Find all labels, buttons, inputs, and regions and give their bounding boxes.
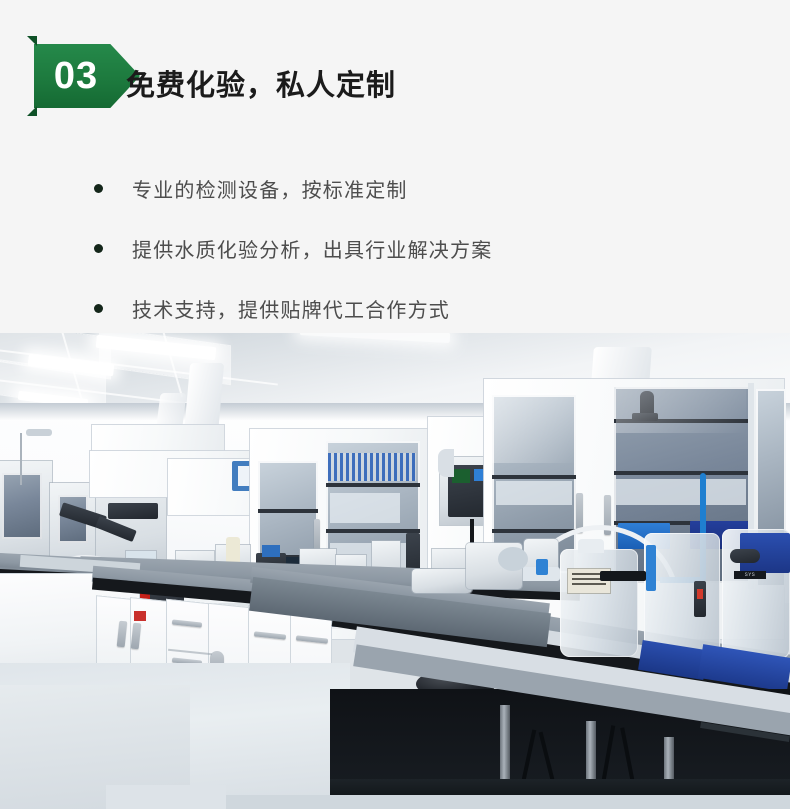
instrument-panel <box>108 503 158 519</box>
hood-fitting <box>438 449 454 477</box>
product-detail-section: 03 免费化验，私人定制 专业的检测设备，按标准定制 提供水质化验分析，出具行业… <box>0 0 790 809</box>
glassware <box>616 479 746 505</box>
bullet-dot-icon <box>94 244 103 253</box>
laboratory-photo: SYS <box>0 333 790 809</box>
unit-panel-label: SYS <box>734 571 766 579</box>
warning-label <box>134 611 146 621</box>
section-number-badge: 03 <box>27 36 140 116</box>
cabinet-shelf <box>614 471 750 475</box>
control-indicator <box>452 469 470 483</box>
water-purification-unit <box>560 549 638 657</box>
cabinet-shelf <box>492 475 576 479</box>
pipette-rack <box>328 453 416 481</box>
page-title: 免费化验，私人定制 <box>126 62 396 104</box>
unit-handle[interactable] <box>730 549 760 563</box>
unit-indicator <box>697 589 703 599</box>
glass-reflection <box>492 393 576 463</box>
unit-display-panel <box>694 581 706 617</box>
unit-cap <box>578 539 604 553</box>
bullet-dot-icon <box>94 184 103 193</box>
cable <box>20 433 22 485</box>
badge-fold-top-icon <box>27 36 37 46</box>
feature-list: 专业的检测设备，按标准定制 提供水质化验分析，出具行业解决方案 技术支持，提供贴… <box>92 158 692 338</box>
cabinet-shelf <box>258 509 318 513</box>
equipment-knob <box>498 547 528 571</box>
floor-strip <box>200 795 790 809</box>
instrument-window <box>2 473 42 539</box>
wall-fitting <box>26 429 52 436</box>
list-item-label: 专业的检测设备，按标准定制 <box>132 174 408 203</box>
blue-indicator <box>262 545 280 557</box>
list-item: 专业的检测设备，按标准定制 <box>92 158 692 218</box>
section-number: 03 <box>43 44 109 108</box>
glassware <box>496 481 572 505</box>
unit-strip <box>600 571 646 581</box>
reagent-bottles <box>330 493 400 523</box>
text-block: 03 免费化验，私人定制 专业的检测设备，按标准定制 提供水质化验分析，出具行业… <box>0 0 790 333</box>
list-item-label: 技术支持，提供贴牌代工合作方式 <box>132 294 450 323</box>
bullet-dot-icon <box>94 304 103 313</box>
bench-equipment <box>412 569 472 593</box>
floor-highlight <box>106 785 226 809</box>
blue-connector <box>536 559 548 575</box>
list-item: 提供水质化验分析，出具行业解决方案 <box>92 218 692 278</box>
unit-blue-stripe <box>646 545 656 591</box>
list-item-label: 提供水质化验分析，出具行业解决方案 <box>132 234 492 263</box>
glass-reflection <box>616 387 746 433</box>
list-item: 技术支持，提供贴牌代工合作方式 <box>92 278 692 338</box>
cabinet-shelf <box>326 483 420 487</box>
badge-fold-bottom-icon <box>27 106 37 116</box>
